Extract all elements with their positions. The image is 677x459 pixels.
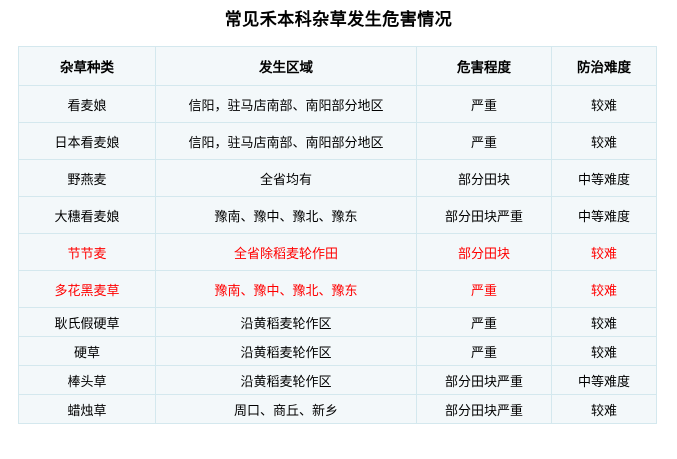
cell-species: 棒头草 [19,366,156,395]
cell-severity: 严重 [417,86,552,123]
cell-difficulty: 中等难度 [552,160,657,197]
cell-region: 全省均有 [156,160,417,197]
cell-region: 信阳，驻马店南部、南阳部分地区 [156,123,417,160]
cell-species: 节节麦 [19,234,156,271]
cell-difficulty: 较难 [552,123,657,160]
table-row: 蜡烛草周口、商丘、新乡部分田块严重较难 [19,395,657,424]
cell-species: 大穗看麦娘 [19,197,156,234]
table-row: 棒头草沿黄稻麦轮作区部分田块严重中等难度 [19,366,657,395]
cell-severity: 严重 [417,308,552,337]
page-title: 常见禾本科杂草发生危害情况 [0,8,677,32]
cell-difficulty: 较难 [552,234,657,271]
page-root: 常见禾本科杂草发生危害情况 杂草种类 发生区域 危害程度 防治难度 看麦娘信阳，… [0,0,677,459]
cell-region: 全省除稻麦轮作田 [156,234,417,271]
cell-severity: 严重 [417,271,552,308]
cell-species: 看麦娘 [19,86,156,123]
table-row: 野燕麦全省均有部分田块中等难度 [19,160,657,197]
table-row: 硬草沿黄稻麦轮作区严重较难 [19,337,657,366]
cell-severity: 部分田块 [417,234,552,271]
cell-severity: 部分田块 [417,160,552,197]
cell-region: 沿黄稻麦轮作区 [156,308,417,337]
table-header: 杂草种类 发生区域 危害程度 防治难度 [19,47,657,86]
cell-region: 沿黄稻麦轮作区 [156,366,417,395]
cell-region: 信阳，驻马店南部、南阳部分地区 [156,86,417,123]
weed-table-container: 杂草种类 发生区域 危害程度 防治难度 看麦娘信阳，驻马店南部、南阳部分地区严重… [18,46,656,424]
column-header-region: 发生区域 [156,47,417,86]
cell-difficulty: 较难 [552,337,657,366]
cell-severity: 部分田块严重 [417,366,552,395]
table-row: 看麦娘信阳，驻马店南部、南阳部分地区严重较难 [19,86,657,123]
column-header-severity: 危害程度 [417,47,552,86]
table-header-row: 杂草种类 发生区域 危害程度 防治难度 [19,47,657,86]
table-body: 看麦娘信阳，驻马店南部、南阳部分地区严重较难日本看麦娘信阳，驻马店南部、南阳部分… [19,86,657,424]
column-header-difficulty: 防治难度 [552,47,657,86]
cell-difficulty: 较难 [552,86,657,123]
table-row: 大穗看麦娘豫南、豫中、豫北、豫东部分田块严重中等难度 [19,197,657,234]
cell-region: 豫南、豫中、豫北、豫东 [156,271,417,308]
cell-region: 沿黄稻麦轮作区 [156,337,417,366]
cell-species: 日本看麦娘 [19,123,156,160]
cell-severity: 部分田块严重 [417,395,552,424]
cell-species: 蜡烛草 [19,395,156,424]
cell-region: 周口、商丘、新乡 [156,395,417,424]
cell-severity: 严重 [417,337,552,366]
column-header-species: 杂草种类 [19,47,156,86]
cell-severity: 部分田块严重 [417,197,552,234]
weed-damage-table: 杂草种类 发生区域 危害程度 防治难度 看麦娘信阳，驻马店南部、南阳部分地区严重… [18,46,657,424]
table-row: 耿氏假硬草沿黄稻麦轮作区严重较难 [19,308,657,337]
cell-difficulty: 中等难度 [552,366,657,395]
cell-difficulty: 较难 [552,271,657,308]
table-row: 多花黑麦草豫南、豫中、豫北、豫东严重较难 [19,271,657,308]
table-row: 日本看麦娘信阳，驻马店南部、南阳部分地区严重较难 [19,123,657,160]
cell-species: 硬草 [19,337,156,366]
cell-difficulty: 较难 [552,308,657,337]
cell-region: 豫南、豫中、豫北、豫东 [156,197,417,234]
cell-difficulty: 较难 [552,395,657,424]
cell-species: 野燕麦 [19,160,156,197]
cell-species: 耿氏假硬草 [19,308,156,337]
cell-severity: 严重 [417,123,552,160]
cell-difficulty: 中等难度 [552,197,657,234]
table-row: 节节麦全省除稻麦轮作田部分田块较难 [19,234,657,271]
cell-species: 多花黑麦草 [19,271,156,308]
